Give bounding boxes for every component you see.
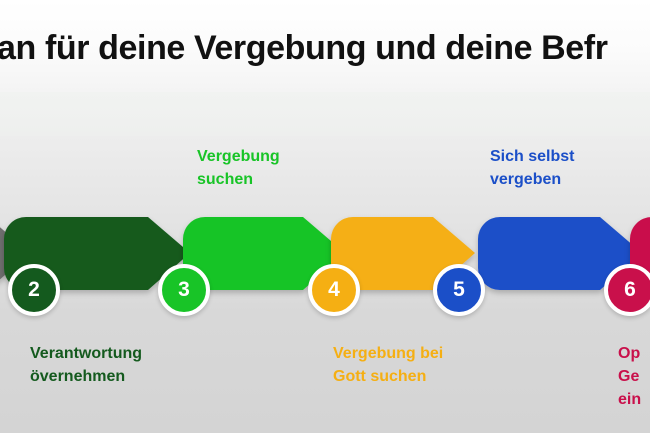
background-band-middle [0,92,650,136]
step-caption-5: Sich selbst vergeben [490,145,574,191]
slide-title: lan für deine Vergebung und deine Befr [0,27,650,70]
step-badge-2-number: 2 [28,278,40,302]
slide-canvas: lan für deine Vergebung und deine Befr [0,0,650,433]
step-badge-4[interactable]: 4 [308,264,360,316]
step-badge-2[interactable]: 2 [8,264,60,316]
step-badge-6[interactable]: 6 [604,264,650,316]
step-badge-3-number: 3 [178,278,190,302]
step-badge-6-number: 6 [624,278,636,302]
step-caption-2: Verantwortung övernehmen [30,342,142,388]
step-caption-6: Op Ge ein [618,342,641,412]
step-badge-3[interactable]: 3 [158,264,210,316]
step-caption-4: Vergebung bei Gott suchen [333,342,443,388]
step-badge-5-number: 5 [453,278,465,302]
step-badge-4-number: 4 [328,278,340,302]
step-badge-5[interactable]: 5 [433,264,485,316]
step-caption-3: Vergebung suchen [197,145,280,191]
